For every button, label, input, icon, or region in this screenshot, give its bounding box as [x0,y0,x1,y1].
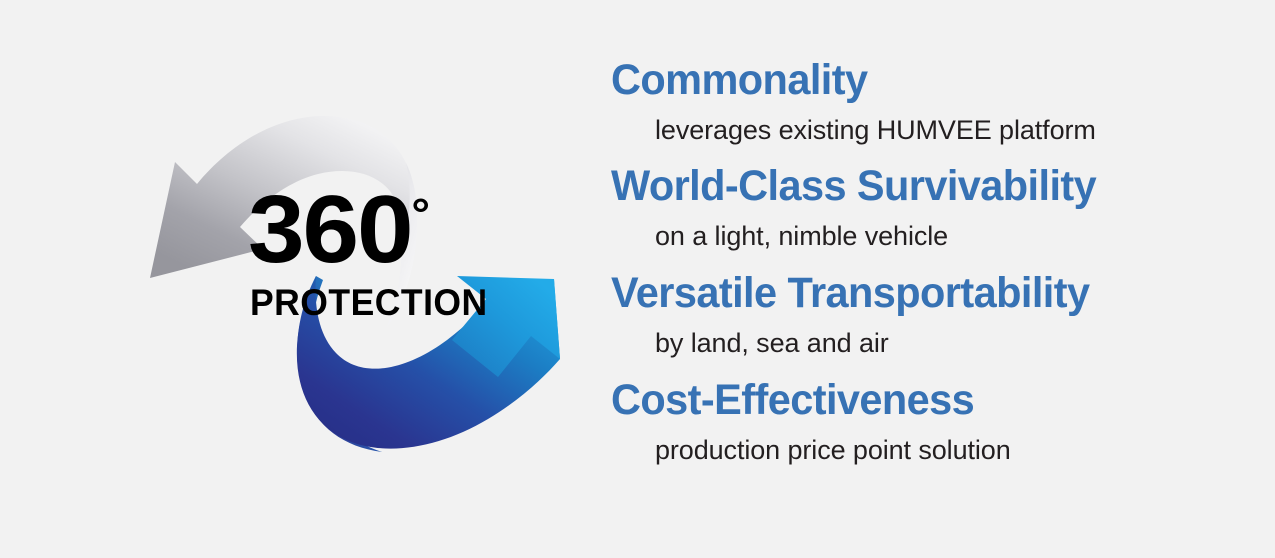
slide-canvas: 360° PROTECTION Commonality leverages ex… [0,0,1275,558]
feature-item-survivability: World-Class Survivability on a light, ni… [611,158,1211,258]
blue-circular-arrow [297,276,560,452]
feature-title: World-Class Survivability [611,158,1190,214]
feature-title: Cost-Effectiveness [611,372,1190,428]
feature-subtitle: by land, sea and air [655,321,1211,365]
logo-arrows-graphic [120,40,590,510]
feature-item-cost-effectiveness: Cost-Effectiveness production price poin… [611,372,1211,472]
gray-circular-arrow [150,116,417,329]
feature-item-transportability: Versatile Transportability by land, sea … [611,265,1211,365]
feature-subtitle: production price point solution [655,428,1211,472]
feature-title: Commonality [611,52,1190,108]
feature-subtitle: on a light, nimble vehicle [655,214,1211,258]
360-protection-logo: 360° PROTECTION [120,40,590,510]
feature-item-commonality: Commonality leverages existing HUMVEE pl… [611,52,1211,152]
feature-subtitle: leverages existing HUMVEE platform [655,108,1211,152]
feature-list: Commonality leverages existing HUMVEE pl… [611,52,1211,472]
feature-title: Versatile Transportability [611,265,1190,321]
